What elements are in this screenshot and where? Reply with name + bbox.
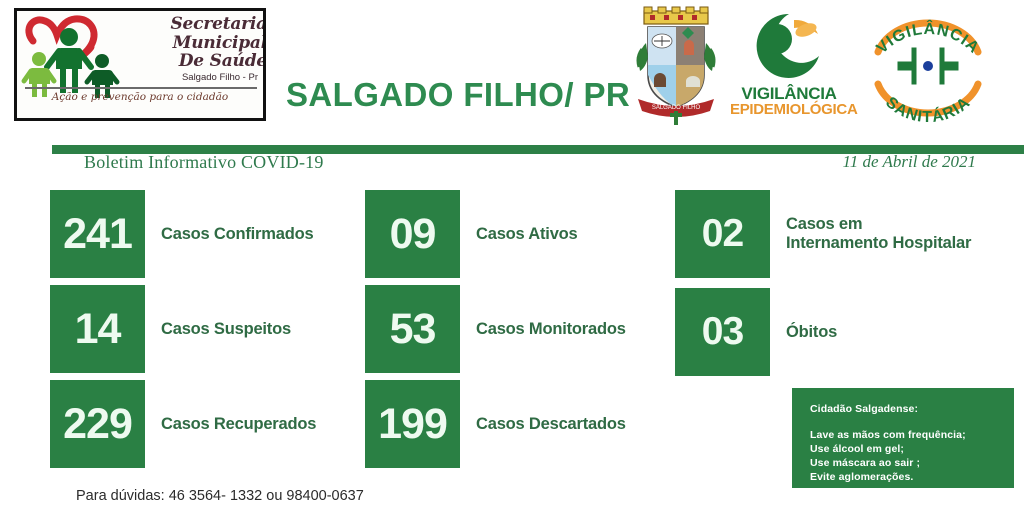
stat-card: 229 Casos Recuperados — [50, 380, 316, 468]
stat-label: Casos Suspeitos — [145, 320, 291, 339]
tips-heading: Cidadão Salgadense: — [810, 402, 1014, 416]
bulletin-subtitle: Boletim Informativo COVID-19 — [84, 152, 324, 173]
logo-city-label: Salgado Filho - Pr — [182, 72, 258, 83]
stat-value: 09 — [365, 190, 460, 278]
stat-card: 14 Casos Suspeitos — [50, 285, 291, 373]
family-heart-icon — [17, 11, 137, 99]
logo-title-block: Secretaria Municipal De Saúde — [129, 15, 266, 71]
stat-value: 229 — [50, 380, 145, 468]
stat-value: 14 — [50, 285, 145, 373]
tips-item: Evite aglomerações. — [810, 470, 1014, 484]
vigilancia-epidemiologica-logo: VIGILÂNCIA EPIDEMIOLÓGICA — [730, 6, 848, 124]
stat-card: 02 Casos em Internamento Hospitalar — [675, 190, 971, 278]
stat-label: Casos Confirmados — [145, 225, 313, 244]
stat-card: 03 Óbitos — [675, 288, 837, 376]
stat-value: 241 — [50, 190, 145, 278]
svg-text:VIGILÂNCIA: VIGILÂNCIA — [873, 19, 982, 57]
stat-label: Casos Monitorados — [460, 320, 626, 339]
epidemiologica-line-2: EPIDEMIOLÓGICA — [730, 101, 848, 118]
stat-value: 03 — [675, 288, 770, 376]
covid-bulletin-page: Secretaria Municipal De Saúde Salgado Fi… — [0, 0, 1024, 512]
stat-label: Óbitos — [770, 323, 837, 342]
stat-card: 09 Casos Ativos — [365, 190, 578, 278]
tips-item: Use máscara ao sair ; — [810, 456, 1014, 470]
contact-footer: Para dúvidas: 46 3564- 1332 ou 98400-063… — [76, 488, 364, 504]
brasao-salgado-filho-icon: SALGADO FILHO — [630, 5, 722, 127]
epidemiologica-swoosh-icon — [730, 6, 848, 86]
stat-label: Casos em Internamento Hospitalar — [770, 215, 971, 253]
stat-label: Casos Recuperados — [145, 415, 316, 434]
svg-text:SALGADO FILHO: SALGADO FILHO — [652, 105, 701, 111]
tips-item: Lave as mãos com frequência; — [810, 428, 1014, 442]
logo-slogan: Ação e prevenção para o cidadão — [17, 91, 263, 103]
stat-value: 02 — [675, 190, 770, 278]
stat-label: Casos Descartados — [460, 415, 626, 434]
stat-card: 199 Casos Descartados — [365, 380, 626, 468]
header: Secretaria Municipal De Saúde Salgado Fi… — [0, 0, 1024, 140]
svg-text:SANITÁRIA: SANITÁRIA — [882, 94, 974, 126]
prevention-tips-box: Cidadão Salgadense: Lave as mãos com fre… — [792, 388, 1014, 488]
vigilancia-sanitaria-logo: VIGILÂNCIA SANITÁRIA — [858, 4, 998, 128]
secretaria-municipal-de-saude-logo: Secretaria Municipal De Saúde Salgado Fi… — [14, 8, 266, 121]
logo-line-3: De Saúde — [129, 52, 266, 71]
bulletin-date: 11 de Abril de 2021 — [843, 152, 976, 172]
stat-card: 241 Casos Confirmados — [50, 190, 313, 278]
stat-value: 53 — [365, 285, 460, 373]
logo-line-1: Secretaria — [129, 15, 266, 34]
tips-item: Use álcool em gel; — [810, 442, 1014, 456]
page-title: SALGADO FILHO/ PR — [286, 76, 630, 114]
logo-divider — [25, 87, 257, 89]
logo-line-2: Municipal — [129, 34, 266, 53]
stat-card: 53 Casos Monitorados — [365, 285, 626, 373]
stat-value: 199 — [365, 380, 460, 468]
stat-label: Casos Ativos — [460, 225, 578, 244]
